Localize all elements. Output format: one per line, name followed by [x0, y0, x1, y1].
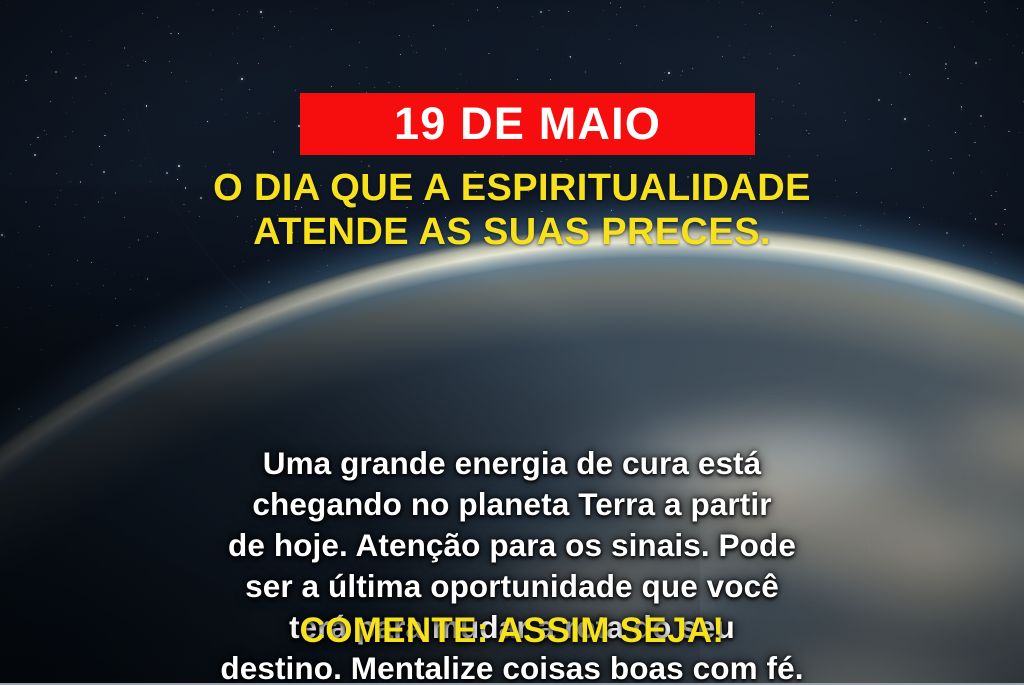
date-banner: 19 DE MAIO: [300, 93, 755, 155]
headline-line-2: ATENDE AS SUAS PRECES.: [0, 210, 1024, 254]
call-to-action-text: COMENTE: ASSIM SEJA!: [0, 613, 1024, 648]
body-line-6: destino. Mentalize coisas boas com fé.: [50, 648, 974, 685]
body-line-2: chegando no planeta Terra a partir: [50, 484, 974, 525]
body-line-4: ser a última oportunidade que você: [50, 566, 974, 607]
body-line-1: Uma grande energia de cura está: [50, 443, 974, 484]
poster-canvas: 19 DE MAIO O DIA QUE A ESPIRITUALIDADE A…: [0, 0, 1024, 685]
headline-line-1: O DIA QUE A ESPIRITUALIDADE: [0, 166, 1024, 210]
body-line-3: de hoje. Atenção para os sinais. Pode: [50, 525, 974, 566]
date-banner-text: 19 DE MAIO: [394, 101, 661, 146]
headline: O DIA QUE A ESPIRITUALIDADE ATENDE AS SU…: [0, 166, 1024, 254]
